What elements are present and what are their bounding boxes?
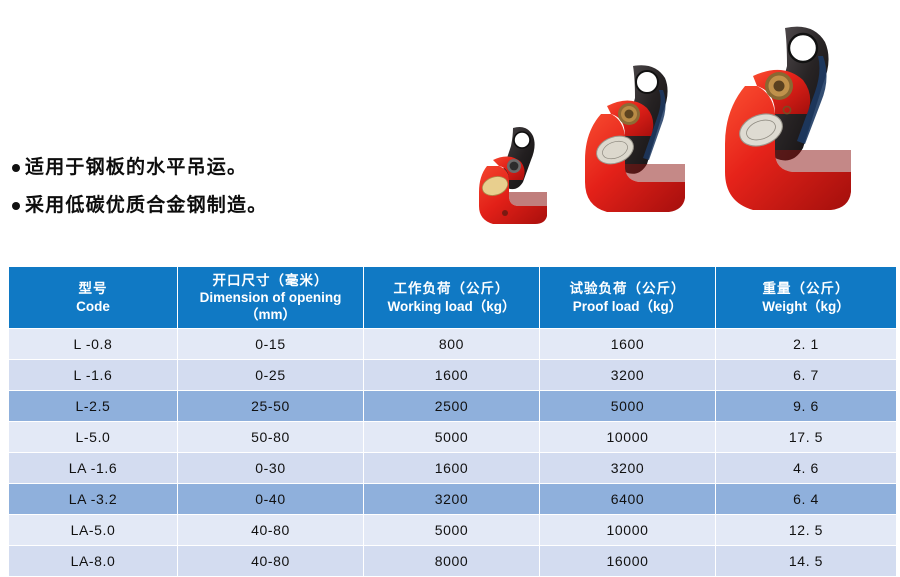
cell-working-load: 3200 <box>364 484 539 514</box>
table-row: L -1.60-25160032006. 7 <box>9 360 896 390</box>
table-row: L-5.050-8050001000017. 5 <box>9 422 896 452</box>
header-en: Dimension of opening <box>182 289 359 306</box>
column-header-working-load: 工作负荷（公斤） Working load（kg） <box>364 267 539 328</box>
cell-opening: 50-80 <box>178 422 363 452</box>
column-header-opening: 开口尺寸（毫米） Dimension of opening （mm） <box>178 267 363 328</box>
cell-proof-load: 5000 <box>540 391 715 421</box>
medium-clamp <box>577 60 717 240</box>
cell-working-load: 1600 <box>364 360 539 390</box>
cell-proof-load: 16000 <box>540 546 715 576</box>
header-en: Proof load（kg） <box>544 298 711 315</box>
cell-working-load: 5000 <box>364 515 539 545</box>
cell-proof-load: 10000 <box>540 515 715 545</box>
cell-opening: 25-50 <box>178 391 363 421</box>
feature-item: 采用低碳优质合金钢制造。 <box>12 194 342 218</box>
cell-proof-load: 10000 <box>540 422 715 452</box>
cell-weight: 6. 7 <box>716 360 896 390</box>
table-header-row: 型号 Code 开口尺寸（毫米） Dimension of opening （m… <box>9 267 896 328</box>
table-row: LA-5.040-8050001000012. 5 <box>9 515 896 545</box>
header-cn: 重量（公斤） <box>720 280 892 297</box>
cell-code: L -0.8 <box>9 329 177 359</box>
cell-working-load: 2500 <box>364 391 539 421</box>
cell-proof-load: 3200 <box>540 360 715 390</box>
cell-proof-load: 6400 <box>540 484 715 514</box>
large-clamp <box>717 22 889 244</box>
cell-code: LA-8.0 <box>9 546 177 576</box>
cell-weight: 4. 6 <box>716 453 896 483</box>
feature-list: 适用于钢板的水平吊运。 采用低碳优质合金钢制造。 <box>12 156 342 232</box>
top-section: 适用于钢板的水平吊运。 采用低碳优质合金钢制造。 <box>0 0 900 258</box>
column-header-proof-load: 试验负荷（公斤） Proof load（kg） <box>540 267 715 328</box>
cell-code: LA -3.2 <box>9 484 177 514</box>
small-clamp <box>465 120 575 235</box>
cell-opening: 40-80 <box>178 515 363 545</box>
product-photo <box>455 8 900 248</box>
cell-weight: 17. 5 <box>716 422 896 452</box>
cell-weight: 2. 1 <box>716 329 896 359</box>
cell-code: L-5.0 <box>9 422 177 452</box>
cell-working-load: 1600 <box>364 453 539 483</box>
specification-table: 型号 Code 开口尺寸（毫米） Dimension of opening （m… <box>8 266 897 577</box>
cell-code: L-2.5 <box>9 391 177 421</box>
header-en: Code <box>13 298 173 315</box>
table-row: L -0.80-1580016002. 1 <box>9 329 896 359</box>
cell-opening: 40-80 <box>178 546 363 576</box>
cell-weight: 14. 5 <box>716 546 896 576</box>
table-row: LA -3.20-40320064006. 4 <box>9 484 896 514</box>
cell-opening: 0-30 <box>178 453 363 483</box>
bullet-dot-icon <box>12 164 20 172</box>
column-header-weight: 重量（公斤） Weight（kg） <box>716 267 896 328</box>
cell-opening: 0-15 <box>178 329 363 359</box>
header-en: Working load（kg） <box>368 298 535 315</box>
cell-weight: 12. 5 <box>716 515 896 545</box>
cell-opening: 0-25 <box>178 360 363 390</box>
header-cn: 试验负荷（公斤） <box>544 280 711 297</box>
cell-code: LA-5.0 <box>9 515 177 545</box>
table-row: LA -1.60-30160032004. 6 <box>9 453 896 483</box>
header-en: Weight（kg） <box>720 298 892 315</box>
header-cn: 工作负荷（公斤） <box>368 280 535 297</box>
feature-item: 适用于钢板的水平吊运。 <box>12 156 342 180</box>
cell-proof-load: 3200 <box>540 453 715 483</box>
feature-text: 采用低碳优质合金钢制造。 <box>25 194 267 218</box>
cell-weight: 9. 6 <box>716 391 896 421</box>
cell-working-load: 800 <box>364 329 539 359</box>
feature-text: 适用于钢板的水平吊运。 <box>25 156 247 180</box>
cell-code: L -1.6 <box>9 360 177 390</box>
cell-working-load: 8000 <box>364 546 539 576</box>
cell-opening: 0-40 <box>178 484 363 514</box>
table-row: L-2.525-50250050009. 6 <box>9 391 896 421</box>
cell-working-load: 5000 <box>364 422 539 452</box>
header-unit: （mm） <box>182 306 359 323</box>
header-cn: 型号 <box>13 280 173 297</box>
cell-weight: 6. 4 <box>716 484 896 514</box>
cell-code: LA -1.6 <box>9 453 177 483</box>
header-cn: 开口尺寸（毫米） <box>182 272 359 289</box>
column-header-code: 型号 Code <box>9 267 177 328</box>
bullet-dot-icon <box>12 202 20 210</box>
cell-proof-load: 1600 <box>540 329 715 359</box>
table-row: LA-8.040-8080001600014. 5 <box>9 546 896 576</box>
